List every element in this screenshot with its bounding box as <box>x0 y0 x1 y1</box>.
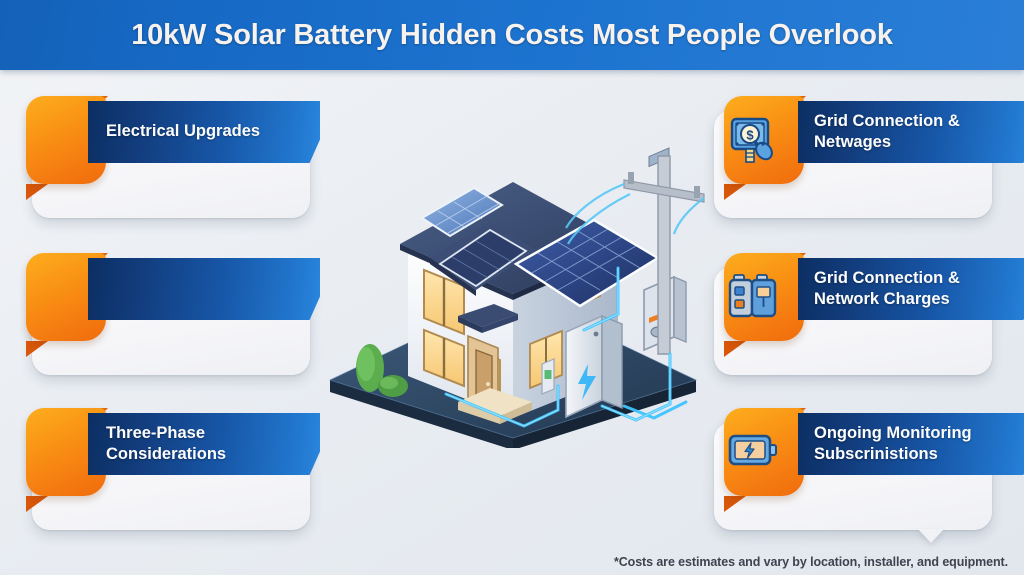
card-three-phase-considerations[interactable]: Three-Phase Considerations <box>14 408 310 531</box>
isometric-solar-house-illustration <box>318 118 708 448</box>
card-grid-connection-network-charges[interactable]: Grid Connection & Network Charges <box>712 253 1008 376</box>
home-battery-unit <box>566 316 622 417</box>
safe-dollar-magnifier-icon: $ <box>726 112 780 166</box>
tab-fold <box>724 341 746 357</box>
tab-fold <box>724 184 746 200</box>
battery-bolt-icon <box>726 428 780 482</box>
wall-inverter <box>542 359 554 394</box>
card-banner: Three-Phase Considerations <box>88 413 320 475</box>
card-title: Ongoing Monitoring Subscrinistions <box>798 423 1024 465</box>
tab-fold <box>26 341 48 357</box>
card-banner: Grid Connection & Netwages <box>798 101 1024 163</box>
card-banner: Electrical Upgrades <box>88 101 320 163</box>
card-left-blank[interactable] <box>14 253 310 376</box>
card-ongoing-monitoring-subscriptions[interactable]: Ongoing Monitoring Subscrinistions <box>712 408 1008 531</box>
page-title: 10kW Solar Battery Hidden Costs Most Peo… <box>131 19 893 52</box>
card-title: Grid Connection & Network Charges <box>798 268 1024 310</box>
infographic-canvas: 10kW Solar Battery Hidden Costs Most Peo… <box>0 0 1024 575</box>
tab-fold <box>26 184 48 200</box>
card-banner <box>88 258 320 320</box>
tab-fold <box>26 496 48 512</box>
header-bar: 10kW Solar Battery Hidden Costs Most Peo… <box>0 0 1024 70</box>
svg-text:$: $ <box>746 128 754 143</box>
card-title: Grid Connection & Netwages <box>798 111 1024 153</box>
dual-battery-icon <box>726 269 780 323</box>
card-banner: Ongoing Monitoring Subscrinistions <box>798 413 1024 475</box>
card-title: Electrical Upgrades <box>88 121 276 142</box>
card-banner: Grid Connection & Network Charges <box>798 258 1024 320</box>
card-title: Three-Phase Considerations <box>88 423 320 465</box>
speech-bubble-tail <box>918 529 944 543</box>
card-electrical-upgrades[interactable]: Electrical Upgrades <box>14 96 310 219</box>
tab-fold <box>724 496 746 512</box>
card-grid-connection-netwages[interactable]: $ Grid Connection & Netwages <box>712 96 1008 219</box>
footnote-text: *Costs are estimates and vary by locatio… <box>614 555 1008 569</box>
